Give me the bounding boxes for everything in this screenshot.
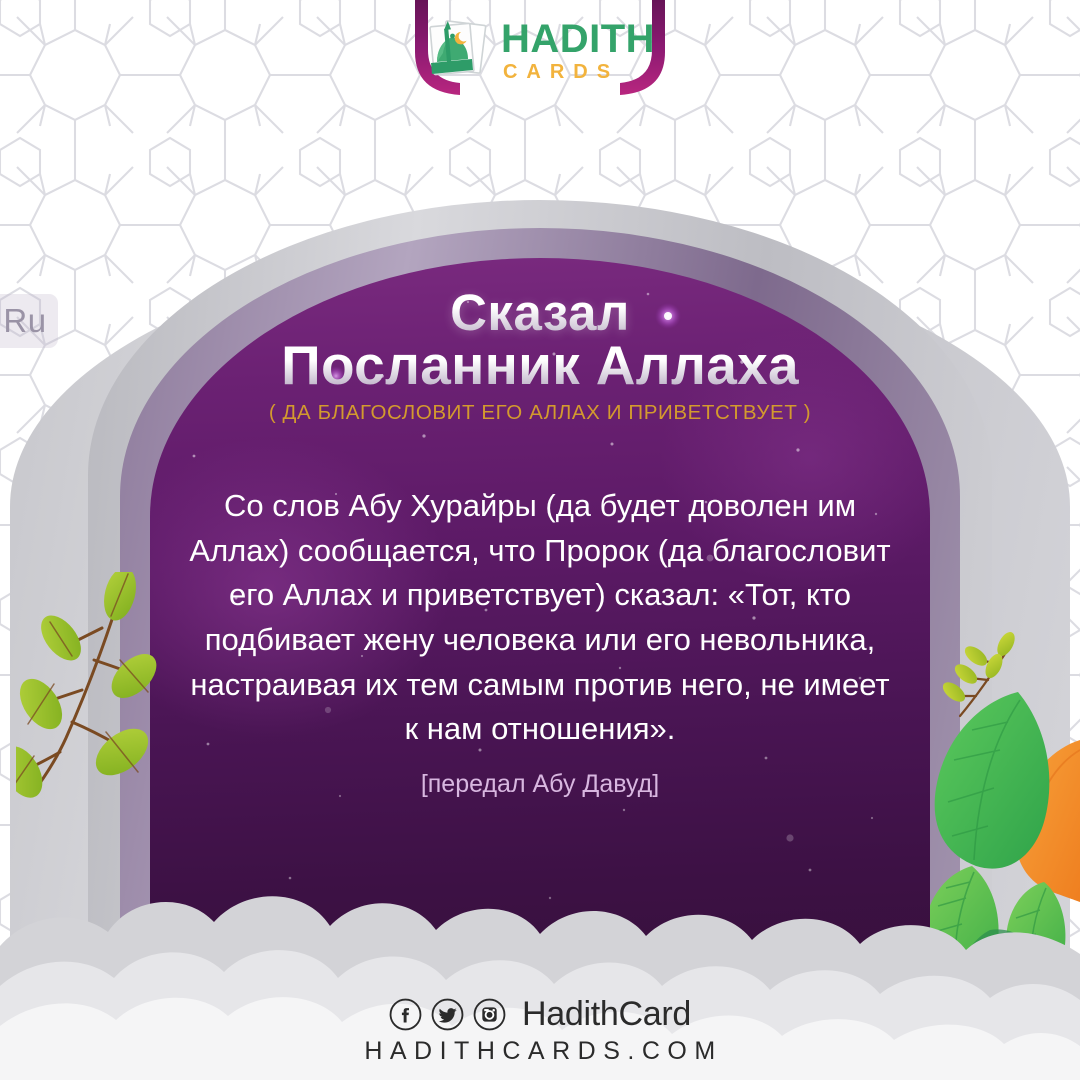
language-badge-label: Ru: [3, 302, 46, 340]
logo-primary-text: HADITH: [501, 17, 655, 61]
hadith-text-block: Со слов Абу Хурайры (да будет доволен им…: [188, 484, 892, 752]
headline-subtitle: ( ДА БЛАГОСЛОВИТ ЕГО АЛЛАХ И ПРИВЕТСТВУЕ…: [150, 401, 930, 425]
leafy-branch-icon: [16, 572, 166, 802]
language-badge[interactable]: Ru: [0, 294, 58, 348]
logo-secondary-text: CARDS: [503, 62, 655, 82]
headline-line-1: Сказал: [150, 286, 930, 339]
headline-block: Сказал Посланник Аллаха ( ДА БЛАГОСЛОВИТ…: [150, 286, 930, 425]
hadith-card: HADITH CARDS Ru: [0, 0, 1080, 1080]
hadith-source: [передал Абу Давуд]: [150, 770, 930, 799]
footer-social-row: HadithCard: [389, 995, 691, 1034]
instagram-icon[interactable]: [473, 998, 506, 1031]
hadith-text: Со слов Абу Хурайры (да будет доволен им…: [188, 484, 892, 752]
brand-logo: HADITH CARDS: [0, 8, 1080, 92]
facebook-icon[interactable]: [389, 998, 422, 1031]
twitter-icon[interactable]: [431, 998, 464, 1031]
footer-website: HADITHCARDS.COM: [364, 1037, 722, 1066]
footer-handle: HadithCard: [522, 995, 691, 1034]
footer: HadithCard HADITHCARDS.COM: [0, 995, 1080, 1066]
mosque-photo-card-icon: [425, 15, 491, 85]
headline-line-2: Посланник Аллаха: [150, 337, 930, 395]
